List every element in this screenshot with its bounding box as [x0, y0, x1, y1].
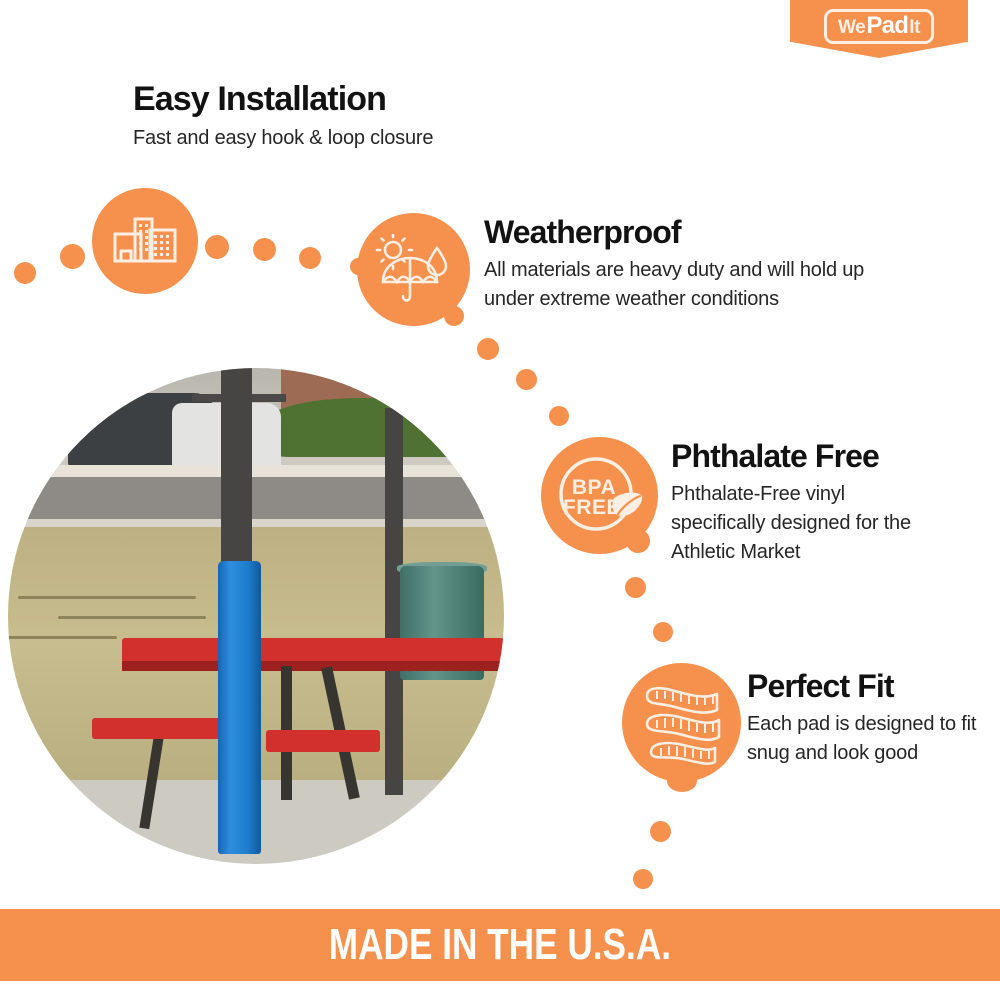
path-dot: [14, 262, 36, 284]
feature-description-phthalate-free: Phthalate-Free vinyl specifically design…: [671, 480, 941, 567]
bpa-free-leaf-icon: BPA FREE: [541, 437, 658, 554]
measuring-tape-icon: [622, 663, 741, 782]
path-dot: [650, 821, 671, 842]
feature-description-easy-installation: Fast and easy hook & loop closure: [133, 124, 433, 153]
feature-title-weatherproof: Weatherproof: [484, 214, 681, 251]
path-dot: [299, 247, 321, 269]
feature-description-perfect-fit: Each pad is designed to fit snug and loo…: [747, 710, 977, 768]
feature-title-phthalate-free: Phthalate Free: [671, 438, 879, 475]
feature-title-easy-installation: Easy Installation: [133, 80, 386, 119]
svg-text:FREE: FREE: [562, 496, 620, 519]
logo-text-it: It: [909, 18, 920, 37]
brand-logo-banner: We Pad It: [790, 0, 968, 58]
path-dot: [205, 235, 229, 259]
path-dot: [253, 238, 276, 261]
path-dot: [653, 622, 673, 642]
path-dot: [633, 869, 653, 889]
umbrella-sun-raindrop-icon: [357, 213, 470, 326]
feature-description-weatherproof: All materials are heavy duty and will ho…: [484, 256, 904, 314]
building-icon: [92, 188, 198, 294]
brand-logo-plate: We Pad It: [824, 9, 934, 44]
path-dot: [625, 577, 646, 598]
made-in-usa-text: MADE IN THE U.S.A.: [329, 920, 671, 970]
path-dot: [60, 244, 85, 269]
path-dot: [516, 369, 537, 390]
logo-text-pad: Pad: [866, 14, 908, 38]
path-dot: [549, 406, 569, 426]
infographic-page: We Pad It Easy Installation Fast and eas…: [0, 0, 1000, 987]
product-photo: [8, 368, 504, 864]
made-in-usa-banner: MADE IN THE U.S.A.: [0, 909, 1000, 981]
logo-text-we: We: [838, 18, 865, 37]
path-dot: [477, 338, 499, 360]
feature-title-perfect-fit: Perfect Fit: [747, 668, 894, 705]
